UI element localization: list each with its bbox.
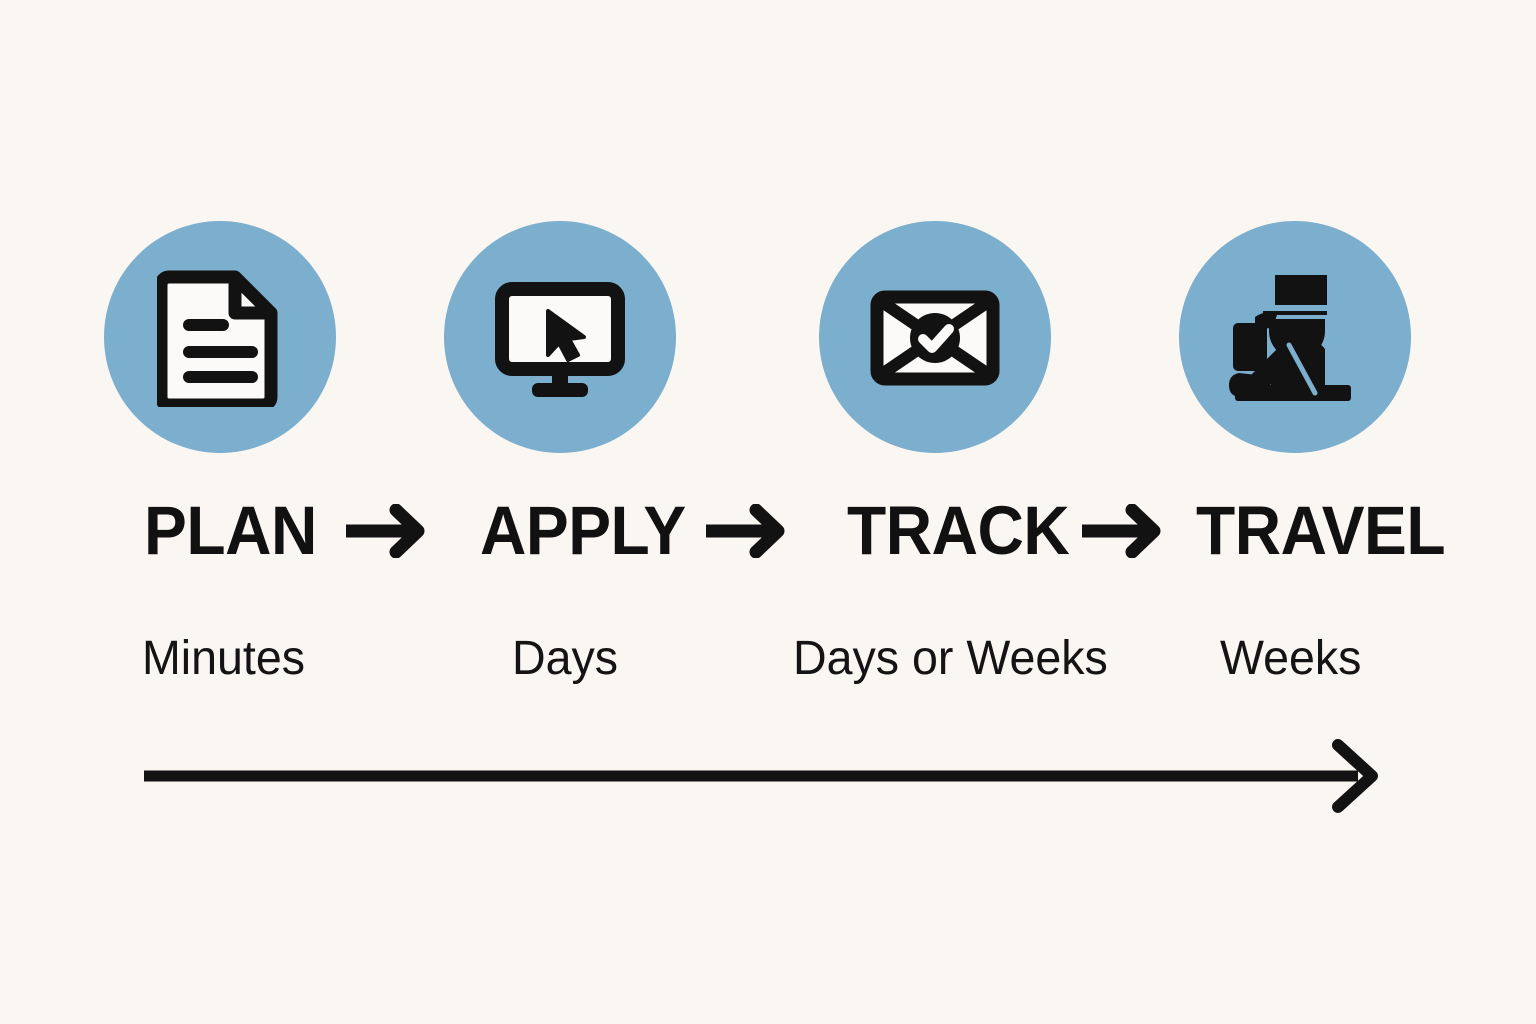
step-name-travel: TRAVEL bbox=[1196, 492, 1445, 570]
arrow-right-icon bbox=[704, 504, 788, 558]
monitor-cursor-icon bbox=[494, 271, 626, 403]
diagram-canvas: PLAN APPLY TRACK TRAVEL Minutes Days bbox=[0, 0, 1536, 1024]
step-name-plan: PLAN bbox=[144, 492, 317, 570]
timeline-arrow-icon bbox=[130, 735, 1400, 819]
step-name-track: TRACK bbox=[847, 492, 1069, 570]
step-name-apply: APPLY bbox=[480, 492, 686, 570]
step-name-row: PLAN APPLY TRACK TRAVEL bbox=[0, 492, 1536, 570]
step-badge-apply[interactable] bbox=[444, 221, 676, 453]
duration-row: Minutes Days Days or Weeks Weeks bbox=[0, 628, 1536, 690]
duration-apply: Days bbox=[512, 628, 618, 690]
step-badge-plan[interactable] bbox=[104, 221, 336, 453]
step-badge-track[interactable] bbox=[819, 221, 1051, 453]
duration-plan: Minutes bbox=[142, 628, 305, 690]
document-icon bbox=[157, 267, 283, 407]
customs-officer-icon bbox=[1219, 261, 1371, 413]
arrow-right-icon bbox=[344, 504, 428, 558]
duration-travel: Weeks bbox=[1220, 628, 1361, 690]
step-badge-travel[interactable] bbox=[1179, 221, 1411, 453]
arrow-right-icon bbox=[1080, 504, 1164, 558]
envelope-check-icon bbox=[869, 271, 1001, 403]
duration-track: Days or Weeks bbox=[793, 628, 1108, 690]
